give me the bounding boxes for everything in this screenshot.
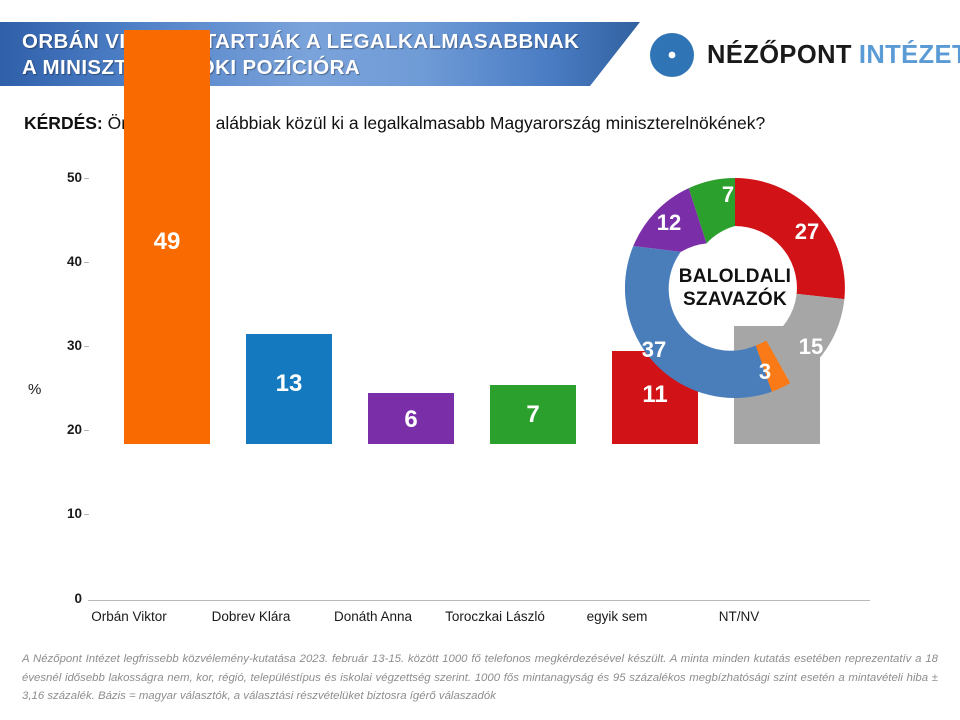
x-label-nt-nv: NT/NV [674, 609, 804, 624]
x-label-donath-anna: Donáth Anna [308, 609, 438, 624]
y-tick-label-40: 40 [44, 255, 82, 269]
methodology-footnote: A Nézőpont Intézet legfrissebb közvélemé… [22, 650, 938, 706]
bar-value-dobrev-klara: 13 [246, 372, 332, 396]
bar-value-orban-viktor: 49 [124, 230, 210, 254]
y-tick-label-0: 0 [44, 592, 82, 606]
x-axis-baseline [88, 600, 870, 601]
donut-slice-blue [625, 246, 772, 398]
logo-word-intezet: INTÉZET [859, 41, 960, 69]
y-tick-mark-10 [84, 514, 89, 515]
donut-chart: BALOLDALI SZAVAZÓK 27 15 3 37 12 7 [617, 170, 853, 406]
y-tick-label-50: 50 [44, 171, 82, 185]
x-label-egyik-sem: egyik sem [552, 609, 682, 624]
bar-toroczkai-laszlo[interactable]: 7 [490, 385, 576, 444]
x-label-orban-viktor: Orbán Viktor [64, 609, 194, 624]
bar-orban-viktor[interactable]: 49 [124, 30, 210, 444]
bar-dobrev-klara[interactable]: 13 [246, 334, 332, 444]
bar-value-donath-anna: 6 [368, 408, 454, 432]
x-label-dobrev-klara: Dobrev Klára [186, 609, 316, 624]
y-tick-label-20: 20 [44, 423, 82, 437]
bar-donath-anna[interactable]: 6 [368, 393, 454, 444]
bar-value-toroczkai-laszlo: 7 [490, 403, 576, 427]
y-tick-label-10: 10 [44, 507, 82, 521]
x-label-toroczkai-laszlo: Toroczkai László [425, 609, 565, 624]
donut-slice-red [735, 178, 845, 299]
y-tick-label-30: 30 [44, 339, 82, 353]
y-axis-title: % [28, 381, 41, 398]
